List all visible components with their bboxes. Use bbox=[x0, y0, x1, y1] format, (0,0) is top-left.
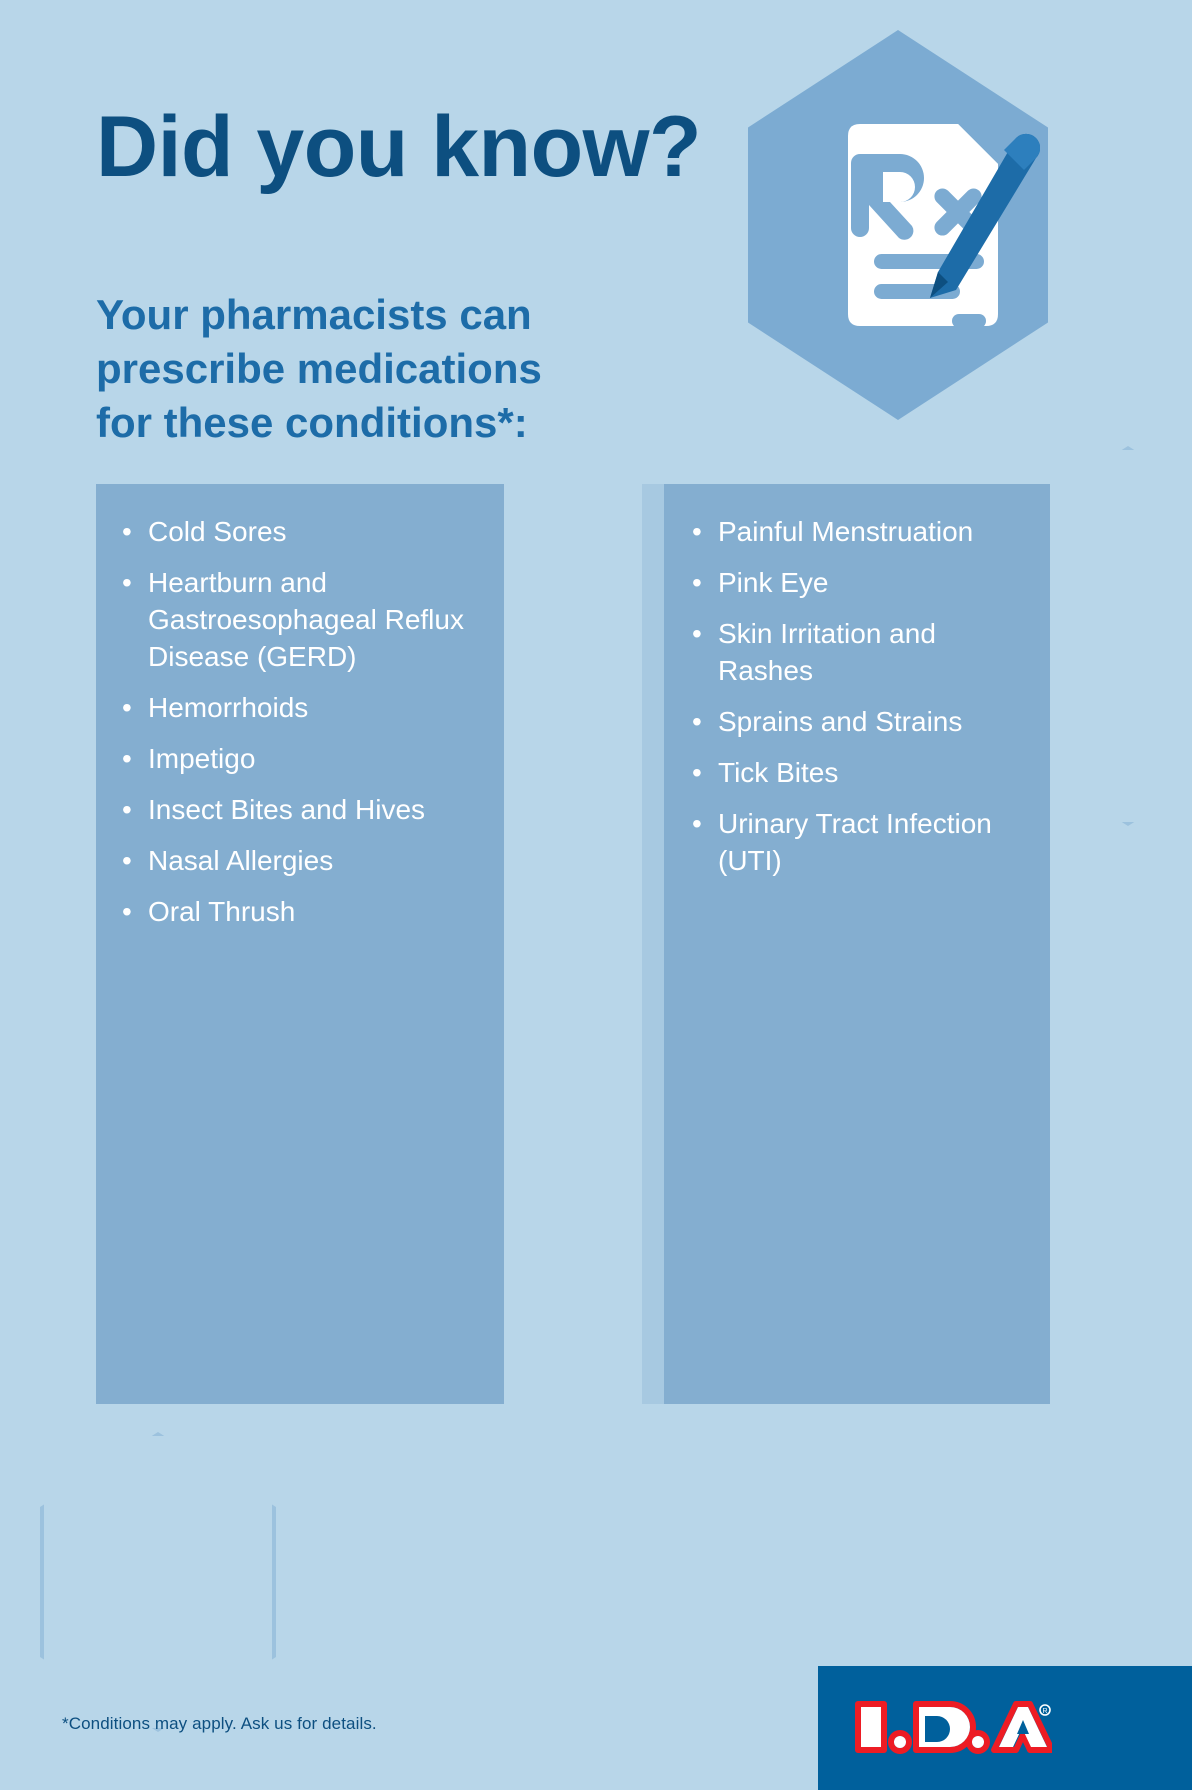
conditions-panel-left: Cold Sores Heartburn and Gastroesophagea… bbox=[96, 484, 504, 1404]
conditions-list-right: Painful Menstruation Pink Eye Skin Irrit… bbox=[642, 484, 1050, 880]
list-item: Skin Irritation and Rashes bbox=[688, 616, 1026, 690]
conditions-list-left: Cold Sores Heartburn and Gastroesophagea… bbox=[96, 484, 504, 931]
list-item: Painful Menstruation bbox=[688, 514, 1026, 551]
list-item: Tick Bites bbox=[688, 755, 1026, 792]
page-title: Did you know? bbox=[96, 104, 701, 190]
list-item: Impetigo bbox=[118, 741, 480, 778]
ida-logo: R bbox=[852, 1698, 1052, 1756]
list-item: Urinary Tract Infection (UTI) bbox=[688, 806, 1026, 880]
subtitle-line-3: for these conditions*: bbox=[96, 396, 542, 450]
footnote-text: *Conditions may apply. Ask us for detail… bbox=[62, 1714, 377, 1734]
ida-logo-box: R bbox=[818, 1666, 1192, 1790]
conditions-panel-right: Painful Menstruation Pink Eye Skin Irrit… bbox=[642, 484, 1050, 1404]
list-item: Nasal Allergies bbox=[118, 843, 480, 880]
subtitle-line-2: prescribe medications bbox=[96, 342, 542, 396]
poster-root: Did you know? Your pharmacists can presc… bbox=[0, 0, 1192, 1790]
hexagon-outline-bottom-left-icon bbox=[40, 1432, 276, 1732]
rx-prescription-icon bbox=[840, 118, 1040, 333]
list-item: Pink Eye bbox=[688, 565, 1026, 602]
page-subtitle: Your pharmacists can prescribe medicatio… bbox=[96, 288, 542, 449]
svg-text:R: R bbox=[1042, 1708, 1047, 1715]
list-item: Heartburn and Gastroesophageal Reflux Di… bbox=[118, 565, 480, 676]
list-item: Cold Sores bbox=[118, 514, 480, 551]
list-item: Hemorrhoids bbox=[118, 690, 480, 727]
conditions-panels: Cold Sores Heartburn and Gastroesophagea… bbox=[96, 484, 1096, 1404]
list-item: Insect Bites and Hives bbox=[118, 792, 480, 829]
subtitle-line-1: Your pharmacists can bbox=[96, 288, 542, 342]
list-item: Oral Thrush bbox=[118, 894, 480, 931]
list-item: Sprains and Strains bbox=[688, 704, 1026, 741]
